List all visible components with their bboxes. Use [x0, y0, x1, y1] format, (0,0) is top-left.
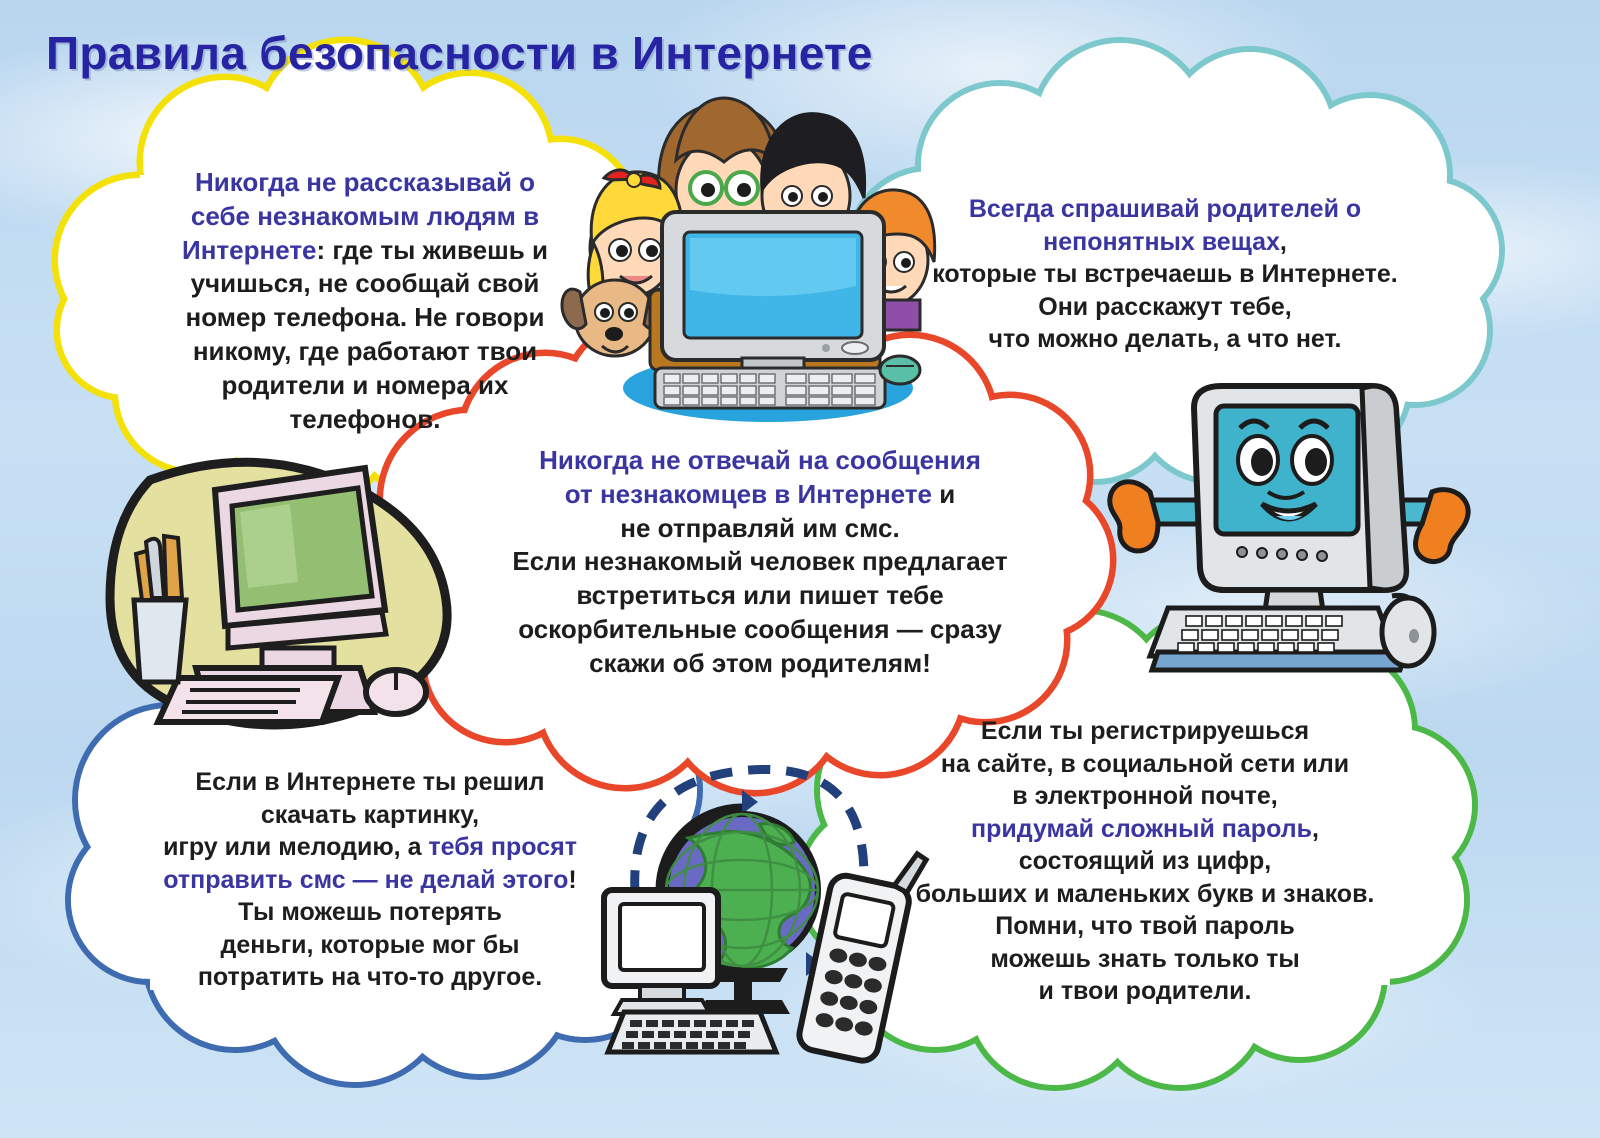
cloud-text-line: учишься, не сообщай свой	[150, 267, 580, 301]
cloud-text-line: отправить смс — не делай этого!	[120, 864, 620, 897]
cloud-text-line: больших и маленьких букв и знаков.	[865, 878, 1425, 911]
cloud-text-line: в электронной почте,	[865, 780, 1425, 813]
body-phrase: ,	[1280, 228, 1287, 256]
body-phrase: никому, где работают твои	[193, 336, 537, 366]
highlighted-phrase: Интернете	[182, 235, 316, 265]
body-phrase: ,	[1312, 815, 1319, 843]
body-phrase: что можно делать, а что нет.	[988, 325, 1341, 353]
body-phrase: и твои родители.	[1039, 977, 1252, 1005]
cloud-text-strong-password: Если ты регистрируешьсяна сайте, в социа…	[865, 715, 1425, 1008]
body-phrase: Если в Интернете ты решил	[195, 768, 544, 796]
cloud-text-line: придумай сложный пароль,	[865, 813, 1425, 846]
cloud-text-ask-parents: Всегда спрашивай родителей онепонятных в…	[915, 193, 1415, 356]
cloud-text-line: встретиться или пишет тебе	[470, 579, 1050, 613]
cloud-text-line: Всегда спрашивай родителей о	[915, 193, 1415, 226]
cloud-text-paid-sms: Если в Интернете ты решилскачать картинк…	[120, 766, 620, 994]
cloud-text-line: скачать картинку,	[120, 799, 620, 832]
page-title: Правила безопасности в Интернете	[46, 26, 873, 80]
highlighted-phrase: Никогда не отвечай на сообщения	[539, 445, 981, 475]
body-phrase: Если незнакомый человек предлагает	[512, 546, 1007, 576]
body-phrase: встретиться или пишет тебе	[576, 580, 943, 610]
body-phrase: состоящий из цифр,	[1019, 847, 1272, 875]
highlighted-phrase: Никогда не рассказывай о	[195, 167, 535, 197]
body-phrase: Помни, что твой пароль	[995, 912, 1294, 940]
cloud-text-line: себе незнакомым людям в	[150, 200, 580, 234]
happy-computer-mascot-illustration	[1110, 386, 1468, 670]
highlighted-phrase: Всегда спрашивай родителей о	[969, 195, 1361, 223]
cloud-text-line: потратить на что-то другое.	[120, 961, 620, 994]
highlighted-phrase: придумай сложный пароль	[971, 815, 1312, 843]
cloud-text-line: Никогда не отвечай на сообщения	[470, 444, 1050, 478]
cloud-text-line: Ты можешь потерять	[120, 896, 620, 929]
kids-at-computer-illustration	[562, 98, 935, 422]
cloud-text-line: Они расскажут тебе,	[915, 291, 1415, 324]
body-phrase: которые ты встречаешь в Интернете.	[932, 260, 1398, 288]
body-phrase: скачать картинку,	[261, 801, 479, 829]
body-phrase: можешь знать только ты	[990, 945, 1299, 973]
body-phrase: игру или мелодию, а	[163, 833, 428, 861]
desk-computer-sketch-illustration	[110, 462, 447, 725]
cloud-text-line: никому, где работают твои	[150, 335, 580, 369]
body-phrase: Они расскажут тебе,	[1038, 293, 1292, 321]
cloud-text-line: которые ты встречаешь в Интернете.	[915, 258, 1415, 291]
body-phrase: оскорбительные сообщения — сразу	[518, 614, 1002, 644]
body-phrase: !	[568, 866, 576, 894]
body-phrase: и	[932, 479, 955, 509]
body-phrase: на сайте, в социальной сети или	[941, 750, 1349, 778]
cloud-text-line: непонятных вещах,	[915, 226, 1415, 259]
cloud-text-line: скажи об этом родителям!	[470, 647, 1050, 681]
cloud-text-line: игру или мелодию, а тебя просят	[120, 831, 620, 864]
cloud-text-line: и твои родители.	[865, 975, 1425, 1008]
cloud-text-personal-info: Никогда не рассказывай осебе незнакомым …	[150, 166, 580, 436]
poster-canvas: Правила безопасности в Интернете Никогда…	[0, 0, 1600, 1138]
body-phrase: телефонов.	[290, 404, 441, 434]
cloud-text-line: Никогда не рассказывай о	[150, 166, 580, 200]
cloud-text-line: родители и номера их	[150, 369, 580, 403]
cloud-text-line: на сайте, в социальной сети или	[865, 748, 1425, 781]
body-phrase: номер телефона. Не говори	[186, 302, 545, 332]
highlighted-phrase: тебя просят	[428, 833, 577, 861]
cloud-text-line: Если в Интернете ты решил	[120, 766, 620, 799]
cloud-text-strangers-messages: Никогда не отвечай на сообщенияот незнак…	[470, 444, 1050, 681]
body-phrase: скажи об этом родителям!	[589, 648, 931, 678]
highlighted-phrase: отправить смс — не делай этого	[163, 866, 568, 894]
cloud-text-line: от незнакомцев в Интернете и	[470, 478, 1050, 512]
body-phrase: потратить на что-то другое.	[198, 963, 542, 991]
body-phrase: больших и маленьких букв и знаков.	[916, 880, 1375, 908]
cloud-text-line: номер телефона. Не говори	[150, 301, 580, 335]
cloud-text-line: Если незнакомый человек предлагает	[470, 545, 1050, 579]
cloud-text-line: не отправляй им смс.	[470, 512, 1050, 546]
highlighted-phrase: непонятных вещах	[1043, 228, 1280, 256]
body-phrase: не отправляй им смс.	[620, 513, 899, 543]
body-phrase: учишься, не сообщай свой	[191, 268, 540, 298]
body-phrase: Если ты регистрируешься	[981, 717, 1309, 745]
body-phrase: родители и номера их	[222, 370, 509, 400]
cloud-text-line: оскорбительные сообщения — сразу	[470, 613, 1050, 647]
cloud-text-line: телефонов.	[150, 403, 580, 437]
cloud-text-line: деньги, которые мог бы	[120, 929, 620, 962]
body-phrase: Ты можешь потерять	[238, 898, 502, 926]
cloud-text-line: Интернете: где ты живешь и	[150, 234, 580, 268]
cloud-text-line: состоящий из цифр,	[865, 845, 1425, 878]
body-phrase: : где ты живешь и	[317, 235, 548, 265]
body-phrase: в электронной почте,	[1012, 782, 1277, 810]
cloud-text-line: Помни, что твой пароль	[865, 910, 1425, 943]
highlighted-phrase: себе незнакомым людям в	[191, 201, 539, 231]
cloud-text-line: можешь знать только ты	[865, 943, 1425, 976]
body-phrase: деньги, которые мог бы	[221, 931, 520, 959]
cloud-text-line: Если ты регистрируешься	[865, 715, 1425, 748]
cloud-text-line: что можно делать, а что нет.	[915, 323, 1415, 356]
highlighted-phrase: от незнакомцев в Интернете	[565, 479, 932, 509]
